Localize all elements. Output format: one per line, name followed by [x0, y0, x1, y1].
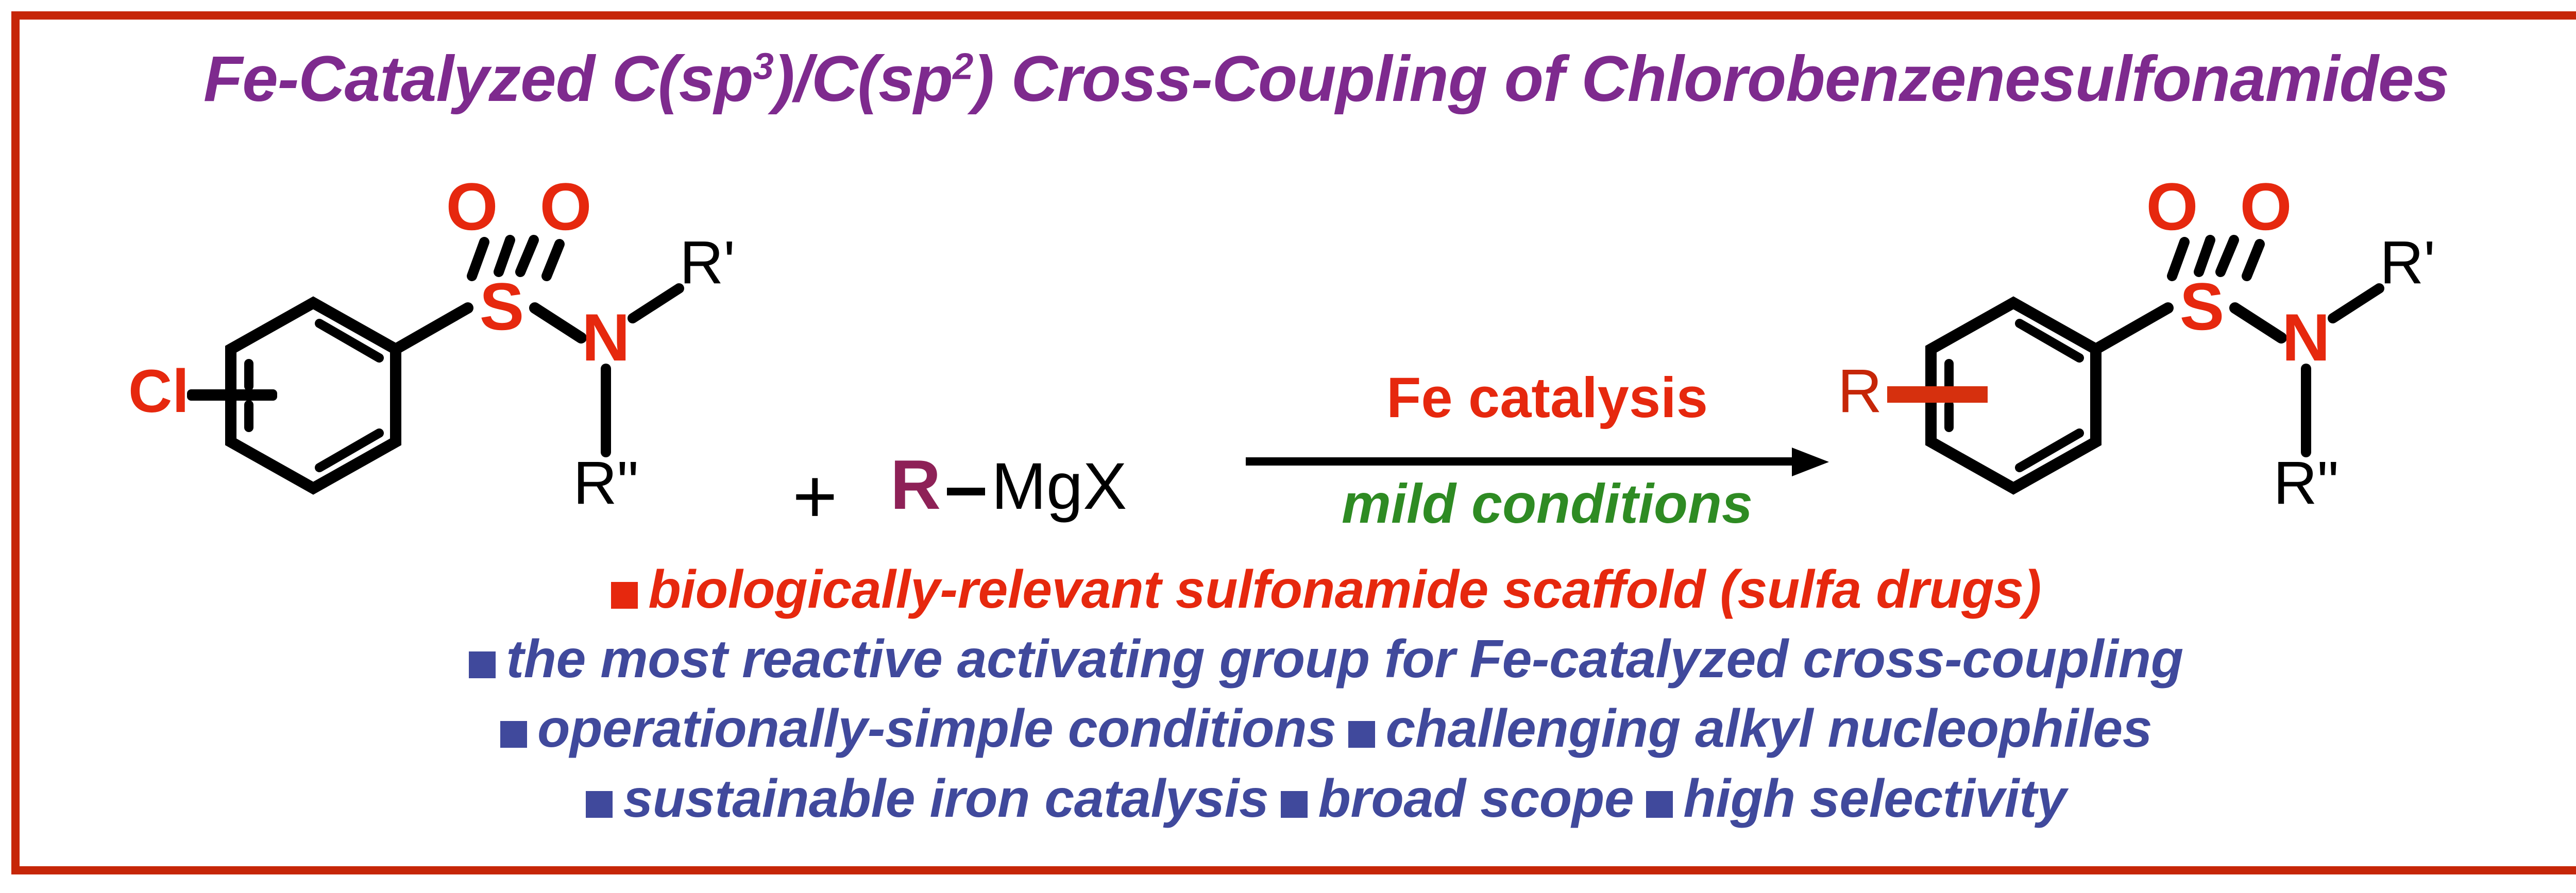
highlight-line: sustainable iron catalysisbroad scopehig…	[20, 764, 2576, 834]
highlight-line: operationally-simple conditionschallengi…	[20, 694, 2576, 764]
oxygen-label-left: O	[2146, 169, 2198, 244]
reaction-arrow	[1246, 450, 1849, 471]
reagent-metal: MgX	[991, 450, 1127, 523]
title-superscript-sp2: 2	[953, 45, 973, 87]
nitrogen-label: N	[2282, 300, 2330, 375]
sulfur-label: S	[480, 269, 524, 344]
bullet-square-icon	[1348, 721, 1375, 748]
title-superscript-sp3: 3	[753, 45, 773, 87]
r-substituent-label: R	[1838, 356, 1883, 425]
reaction-scheme: Cl S O O N R' R" + RMgX Fe catalysis mil…	[20, 148, 2576, 540]
arrow-head-icon	[1792, 448, 1829, 476]
r-prime-label: R'	[2380, 229, 2435, 297]
page-title: Fe-Catalyzed C(sp3)/C(sp2) Cross-Couplin…	[20, 45, 2576, 113]
graphical-abstract-frame: Fe-Catalyzed C(sp3)/C(sp2) Cross-Couplin…	[11, 11, 2576, 874]
reagent-bond	[947, 488, 985, 495]
highlights-list: biologically-relevant sulfonamide scaffo…	[20, 555, 2576, 834]
grignard-reagent: RMgX	[890, 450, 1127, 520]
highlight-text: operationally-simple conditions	[537, 699, 1336, 759]
cl-bond	[187, 389, 277, 401]
title-suffix: ) Cross-Coupling of Chlorobenzenesulfona…	[973, 43, 2449, 115]
highlight-text: broad scope	[1318, 769, 1634, 829]
chloro-label: Cl	[128, 357, 189, 425]
title-prefix: Fe-Catalyzed C(sp	[204, 43, 753, 115]
bullet-square-icon	[586, 791, 613, 818]
bullet-square-icon	[1646, 791, 1673, 818]
title-middle: )/C(sp	[773, 43, 953, 115]
bullet-square-icon	[469, 651, 496, 678]
oxygen-label-right: O	[539, 169, 591, 244]
highlight-text: biologically-relevant sulfonamide scaffo…	[648, 560, 2041, 620]
bullet-square-icon	[1281, 791, 1308, 818]
sulfur-label: S	[2180, 269, 2225, 344]
highlight-line: the most reactive activating group for F…	[20, 625, 2576, 694]
reagent-r-group: R	[890, 445, 941, 524]
bullet-square-icon	[500, 721, 527, 748]
r-double-prime-label: R"	[2273, 449, 2338, 517]
r-bond	[1887, 386, 1988, 403]
r-double-prime-label: R"	[573, 449, 638, 517]
highlight-text: challenging alkyl nucleophiles	[1385, 699, 2152, 759]
highlight-line: biologically-relevant sulfonamide scaffo…	[20, 555, 2576, 625]
highlight-text: high selectivity	[1683, 769, 2066, 829]
arrow-condition-below: mild conditions	[1246, 476, 1849, 531]
product-structure: R S O O N R' R"	[1838, 148, 2576, 540]
plus-sign: +	[792, 457, 838, 535]
r-prime-label: R'	[680, 229, 735, 297]
highlight-text: sustainable iron catalysis	[623, 769, 1268, 829]
oxygen-label-right: O	[2240, 169, 2292, 244]
oxygen-label-left: O	[446, 169, 498, 244]
reaction-arrow-group: Fe catalysis mild conditions	[1246, 370, 1849, 531]
arrow-shaft	[1246, 457, 1805, 466]
nitrogen-label: N	[582, 300, 630, 375]
arrow-condition-above: Fe catalysis	[1246, 370, 1849, 426]
bullet-square-icon	[611, 582, 638, 609]
highlight-text: the most reactive activating group for F…	[506, 629, 2183, 689]
